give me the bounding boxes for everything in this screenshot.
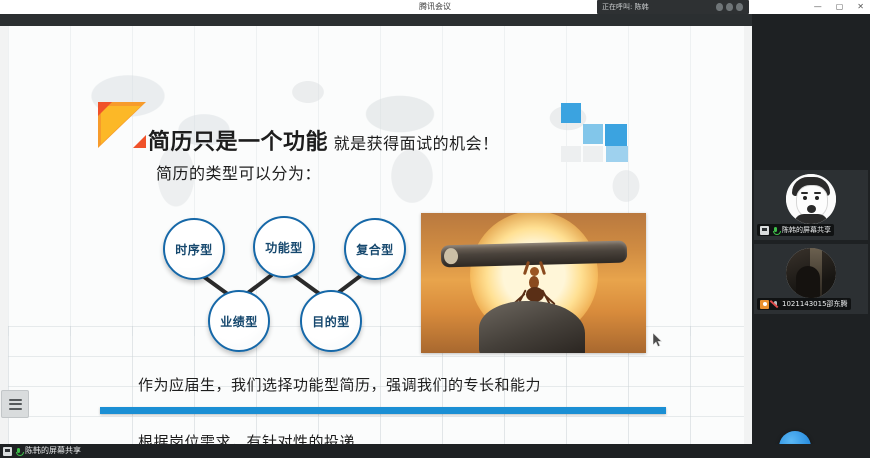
- headline-rest-part: 就是获得面试的机会！: [328, 134, 499, 153]
- window-title-bar: 腾讯会议 正在呼叫: 陈韩 — ▢ ✕: [0, 0, 870, 14]
- sharing-status-label: 陈韩的屏幕共享: [25, 444, 81, 458]
- decor-square-icon: [606, 146, 628, 162]
- mic-active-icon: [771, 226, 780, 235]
- avatar: [786, 248, 836, 298]
- status-bar: 陈韩的屏幕共享: [0, 444, 755, 458]
- bubble-fuhe: 复合型: [344, 218, 406, 280]
- slide-headline: 简历只是一个功能 就是获得面试的机会！: [148, 124, 499, 156]
- bubble-label: 复合型: [356, 241, 394, 258]
- maximize-button[interactable]: ▢: [836, 3, 844, 11]
- list-menu-icon: [9, 399, 22, 410]
- mic-active-icon: [14, 447, 23, 456]
- participant-rail: 陈韩的屏幕共享 1021143015邵东腾: [752, 14, 870, 444]
- participant-name: 陈韩的屏幕共享: [782, 224, 831, 236]
- participant-name: 1021143015邵东腾: [782, 298, 848, 310]
- calling-avatars-group: [716, 3, 743, 11]
- calling-status-text: 正在呼叫: 陈韩: [602, 0, 649, 14]
- panel-toggle-button[interactable]: [1, 390, 29, 418]
- resume-type-diagram: 时序型 功能型 复合型 业绩型 目的型: [148, 216, 428, 351]
- presentation-slide: 简历只是一个功能 就是获得面试的机会！ 简历的类型可以分为： 时序型 功能型 复…: [8, 26, 744, 444]
- screen-share-icon: [760, 226, 769, 235]
- bubble-gongneng: 功能型: [253, 216, 315, 278]
- ant-lifting-log-photo: [421, 213, 646, 353]
- slide-subline: 简历的类型可以分为：: [156, 160, 321, 184]
- decor-square-icon: [605, 124, 627, 146]
- calling-avatar-dot: [716, 3, 723, 11]
- avatar: [786, 174, 836, 224]
- orange-triangle-icon: [98, 102, 146, 148]
- decor-square-icon: [561, 146, 581, 162]
- toolbar-strip: [0, 14, 752, 26]
- bubble-label: 功能型: [265, 239, 303, 256]
- decor-square-icon: [561, 103, 581, 123]
- status-bar-right-filler: [752, 444, 870, 458]
- calling-avatar-dot: [726, 3, 733, 11]
- close-button[interactable]: ✕: [857, 3, 864, 11]
- participant-tile-1[interactable]: 陈韩的屏幕共享: [754, 170, 868, 240]
- bubble-label: 业绩型: [220, 313, 258, 330]
- screen-share-icon: [3, 447, 12, 456]
- participant-name-bar: 陈韩的屏幕共享: [757, 224, 834, 236]
- shared-screen-area: 简历只是一个功能 就是获得面试的机会！ 简历的类型可以分为： 时序型 功能型 复…: [0, 26, 752, 444]
- bubble-shixu: 时序型: [163, 218, 225, 280]
- decor-square-icon: [583, 146, 603, 162]
- window-controls: — ▢ ✕: [814, 0, 864, 14]
- calling-status-chip[interactable]: 正在呼叫: 陈韩: [597, 0, 749, 14]
- slide-body-line-2: 根据岗位需求，有针对性的投递: [138, 431, 355, 444]
- slide-divider-bar: [100, 407, 666, 414]
- decor-square-icon: [583, 124, 603, 144]
- tencent-meeting-window: 腾讯会议 正在呼叫: 陈韩 — ▢ ✕: [0, 0, 870, 458]
- mic-muted-icon: [771, 300, 780, 309]
- bubble-mude: 目的型: [300, 290, 362, 352]
- mouse-cursor-icon: [653, 333, 662, 347]
- participant-name-bar: 1021143015邵东腾: [757, 298, 851, 310]
- headline-bold-part: 简历只是一个功能: [148, 130, 328, 155]
- host-badge-icon: [760, 300, 769, 309]
- minimize-button[interactable]: —: [814, 3, 822, 11]
- calling-avatar-dot: [736, 3, 743, 11]
- participant-tile-2[interactable]: 1021143015邵东腾: [754, 244, 868, 314]
- bubble-label: 目的型: [312, 313, 350, 330]
- slide-body-line-1: 作为应届生，我们选择功能型简历，强调我们的专长和能力: [138, 374, 541, 395]
- bubble-yeji: 业绩型: [208, 290, 270, 352]
- bubble-label: 时序型: [175, 241, 213, 258]
